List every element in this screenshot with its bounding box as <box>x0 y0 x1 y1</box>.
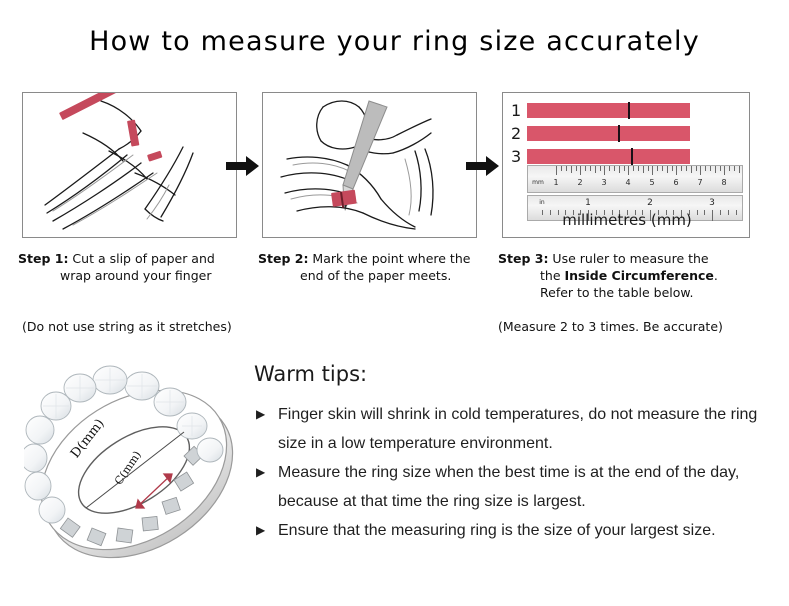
ruler-cm-6: 6 <box>673 179 678 187</box>
ruler-tick <box>619 166 620 173</box>
diamond-eternity-ring-drawing <box>24 352 256 588</box>
step-1-caption: Step 1: Cut a slip of paper and wrap aro… <box>18 250 248 284</box>
step-captions: Step 1: Cut a slip of paper and wrap aro… <box>0 250 789 350</box>
ruler-tick <box>580 166 581 175</box>
ruler-tick <box>571 166 572 173</box>
step-3-line2-tail: . <box>714 268 718 283</box>
ruler-tick <box>600 166 601 171</box>
hand-with-paper-slip-drawing <box>23 93 236 237</box>
ruler-tick <box>643 166 644 173</box>
step-3-inside-circumference: Inside Circumference <box>565 268 714 283</box>
step-1-lead: Step 1: <box>18 251 68 266</box>
step-3-caption: Step 3: Use ruler to measure the the Ins… <box>498 250 768 301</box>
ruler-tick <box>686 166 687 171</box>
ruler-in-2: 2 <box>647 199 653 207</box>
ruler-tick <box>648 166 649 171</box>
ruler-tick <box>720 166 721 171</box>
ruler-in-1: 1 <box>585 199 591 207</box>
warm-tips-section: Warm tips: ▶ Finger skin will shrink in … <box>254 362 774 545</box>
strip-tick-1 <box>628 102 630 119</box>
strip-label-3: 3 <box>511 149 527 165</box>
bullet-triangle-icon: ▶ <box>256 400 265 429</box>
ruler-tick <box>676 166 677 175</box>
step-3-line3: Refer to the table below. <box>498 284 768 301</box>
ruler-tick <box>561 166 562 171</box>
ruler-tick <box>710 166 711 171</box>
ruler-tick <box>739 166 740 173</box>
measured-strips-group: 1 2 3 <box>511 101 743 170</box>
warm-tip-2: ▶ Measure the ring size when the best ti… <box>254 458 774 516</box>
millimetres-label: millimetres (mm) <box>503 211 750 229</box>
ruler-tick <box>614 166 615 171</box>
strip-bar-2 <box>527 126 690 141</box>
step-1-line1: Cut a slip of paper and <box>68 251 214 266</box>
ruler-tick <box>729 166 730 171</box>
bullet-triangle-icon: ▶ <box>256 516 265 545</box>
ruler-tick <box>595 166 596 173</box>
strip-label-1: 1 <box>511 103 527 119</box>
ruler-tick <box>700 166 701 175</box>
step-1-illustration-panel <box>22 92 237 238</box>
ruler-tick <box>672 166 673 171</box>
ruler-tick <box>724 166 725 175</box>
bullet-triangle-icon: ▶ <box>256 458 265 487</box>
paper-slip-red-marked <box>331 190 357 208</box>
step-3-line2-pre: the <box>540 268 565 283</box>
ruler-tick <box>556 166 557 175</box>
strip-label-2: 2 <box>511 126 527 142</box>
ruler-tick <box>662 166 663 171</box>
ruler-tick <box>691 166 692 173</box>
step-2-line1: Mark the point where the <box>308 251 470 266</box>
ruler-tick <box>628 166 629 175</box>
strip-bar-1 <box>527 103 690 118</box>
ruler-tick <box>609 166 610 171</box>
strip-row-2: 2 <box>511 124 743 143</box>
ruler-cm-5: 5 <box>649 179 654 187</box>
ruler-tick <box>624 166 625 171</box>
warm-tip-3-text: Ensure that the measuring ring is the si… <box>278 522 716 539</box>
step-1-note: (Do not use string as it stretches) <box>22 318 232 335</box>
strip-bar-3 <box>527 149 690 164</box>
strip-tick-3 <box>631 148 633 165</box>
ruler-tick <box>667 166 668 173</box>
ruler-in-3: 3 <box>709 199 715 207</box>
ruler-tick <box>590 166 591 171</box>
hand-marking-paper-drawing <box>263 93 476 237</box>
ring-illustration: D(mm) C(mm) <box>24 352 256 588</box>
ruler-metric-scale: mm 1 2 3 4 5 6 7 8 <box>527 165 743 193</box>
ruler-cm-2: 2 <box>577 179 582 187</box>
step-1-line2: wrap around your finger <box>18 267 248 284</box>
arrow-right-icon-1 <box>226 154 260 178</box>
strip-row-1: 1 <box>511 101 743 120</box>
arrow-right-icon-2 <box>466 154 500 178</box>
ruler-tick <box>633 166 634 171</box>
step-2-caption: Step 2: Mark the point where the end of … <box>258 250 496 284</box>
ruler-in-unit: in <box>539 199 544 207</box>
step-2-lead: Step 2: <box>258 251 308 266</box>
ruler-cm-8: 8 <box>721 179 726 187</box>
step-3-line1: Use ruler to measure the <box>548 251 708 266</box>
step-3-lead: Step 3: <box>498 251 548 266</box>
warm-tip-1-text: Finger skin will shrink in cold temperat… <box>278 406 757 452</box>
strip-row-3: 3 <box>511 147 743 166</box>
ruler-tick <box>681 166 682 171</box>
ruler-tick <box>566 166 567 171</box>
ruler-tick <box>585 166 586 171</box>
step-3-line2: the Inside Circumference. <box>498 267 768 284</box>
warm-tip-3: ▶ Ensure that the measuring ring is the … <box>254 516 774 545</box>
ruler-tick <box>576 166 577 171</box>
warm-tip-1: ▶ Finger skin will shrink in cold temper… <box>254 400 774 458</box>
step-2-illustration-panel <box>262 92 477 238</box>
warm-tips-heading: Warm tips: <box>254 362 774 386</box>
ruler-tick <box>652 166 653 175</box>
ruler-tick <box>734 166 735 171</box>
step-3-note: (Measure 2 to 3 times. Be accurate) <box>498 318 723 335</box>
ruler-tick <box>696 166 697 171</box>
ruler-cm-7: 7 <box>697 179 702 187</box>
ruler-cm-unit: mm <box>532 179 544 187</box>
step-2-line2: end of the paper meets. <box>258 267 496 284</box>
ruler-cm-4: 4 <box>625 179 630 187</box>
strip-tick-2 <box>618 125 620 142</box>
warm-tip-2-text: Measure the ring size when the best time… <box>278 464 739 510</box>
steps-row: 1 2 3 mm 1 2 <box>0 92 789 242</box>
ruler-tick <box>715 166 716 173</box>
step-3-illustration-panel: 1 2 3 mm 1 2 <box>502 92 750 238</box>
page-title: How to measure your ring size accurately <box>0 26 789 57</box>
ruler-cm-3: 3 <box>601 179 606 187</box>
ruler-tick <box>657 166 658 171</box>
ruler-tick <box>705 166 706 171</box>
ruler-tick <box>604 166 605 175</box>
ruler-tick <box>638 166 639 171</box>
ruler-cm-1: 1 <box>553 179 558 187</box>
